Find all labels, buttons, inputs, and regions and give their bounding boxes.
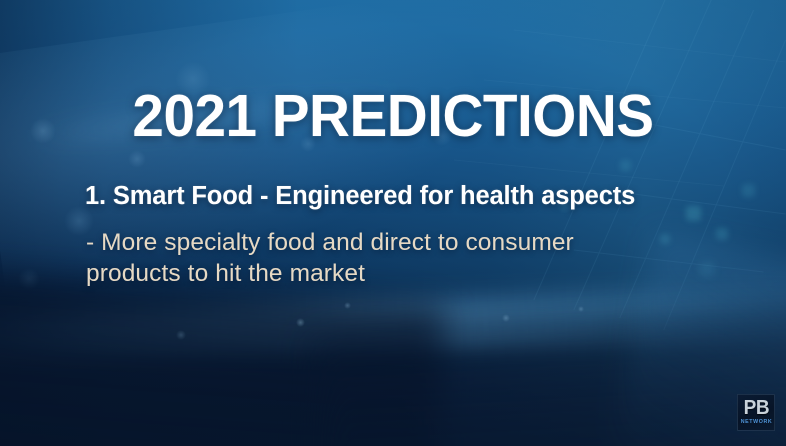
presentation-slide: 2021 PREDICTIONS 1. Smart Food - Enginee… — [0, 0, 786, 446]
body-line-1: - More specialty food and direct to cons… — [86, 227, 711, 258]
slide-subheadline: 1. Smart Food - Engineered for health as… — [85, 182, 635, 211]
slide-headline: 2021 PREDICTIONS — [16, 87, 771, 146]
body-line-2: products to hit the market — [86, 258, 711, 289]
logo-mark-text: PB — [743, 399, 768, 418]
slide-content: 2021 PREDICTIONS 1. Smart Food - Enginee… — [0, 0, 786, 446]
pb-network-logo: PB NETWORK — [737, 394, 775, 431]
logo-wordmark-text: NETWORK — [740, 419, 772, 426]
slide-body-text: - More specialty food and direct to cons… — [86, 227, 711, 290]
